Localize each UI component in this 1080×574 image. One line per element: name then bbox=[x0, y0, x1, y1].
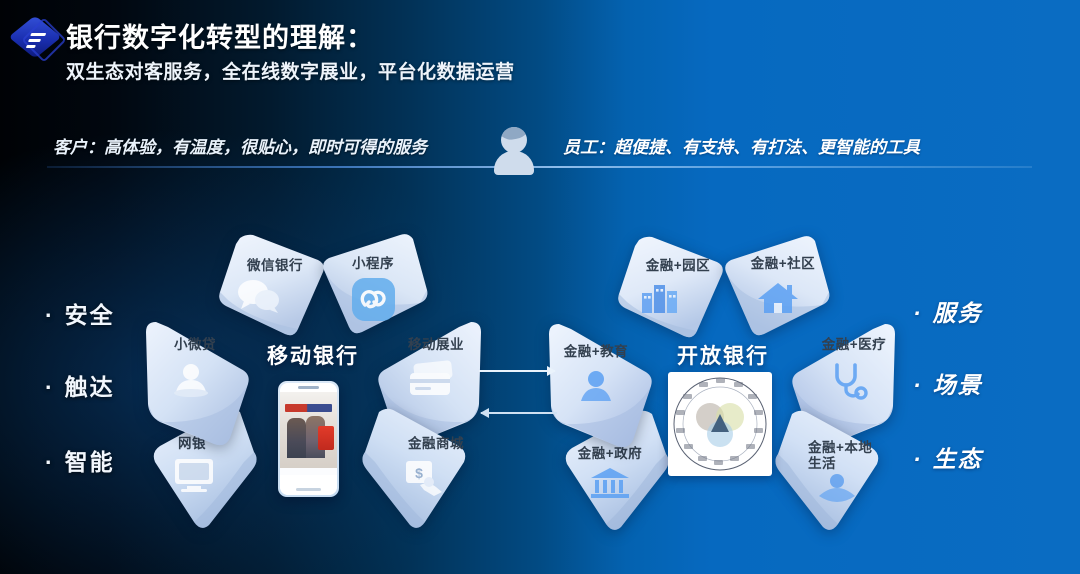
left-cluster-title: 移动银行 bbox=[267, 340, 359, 370]
desktop-monitor-icon bbox=[172, 457, 216, 500]
left-bullet-label-1: 触达 bbox=[65, 374, 115, 400]
user-avatar-icon bbox=[492, 127, 536, 173]
svg-text:$: $ bbox=[415, 465, 423, 481]
bullet-dot: · bbox=[45, 374, 55, 401]
arrow-left-to-right bbox=[479, 370, 555, 372]
petal-label-finance-education: 金融+教育 bbox=[548, 344, 644, 360]
left-bullet-0: ·安全 bbox=[45, 296, 115, 330]
left-bullet-2: ·智能 bbox=[45, 443, 115, 477]
page-subtitle: 双生态对客服务，全在线数字展业，平台化数据运营 bbox=[66, 57, 515, 84]
band-divider bbox=[47, 166, 1032, 168]
petal-label-finance-medical: 金融+医疗 bbox=[806, 337, 902, 353]
right-bullet-1: ·场景 bbox=[913, 366, 983, 400]
right-bullet-0: ·服务 bbox=[913, 294, 983, 328]
left-bullet-label-0: 安全 bbox=[65, 302, 115, 328]
shopping-money-icon: $ bbox=[404, 458, 448, 503]
brand-diamond-logo bbox=[12, 16, 60, 64]
petal-label-wechat-bank: 微信银行 bbox=[230, 258, 320, 274]
petal-label-finance-community: 金融+社区 bbox=[733, 256, 833, 272]
arrow-right-to-left bbox=[481, 412, 557, 414]
right-bullet-label-1: 场景 bbox=[933, 372, 983, 398]
bullet-dot: · bbox=[45, 449, 55, 476]
right-bullet-2: ·生态 bbox=[913, 440, 983, 474]
bullet-dot: · bbox=[913, 300, 923, 327]
right-bullet-label-0: 服务 bbox=[933, 300, 983, 326]
petal-label-micro-loan: 小微贷 bbox=[155, 337, 235, 353]
petal-label-finance-mall: 金融商城 bbox=[392, 436, 480, 452]
left-bullet-label-2: 智能 bbox=[65, 449, 115, 475]
slide-canvas: 银行数字化转型的理解： 双生态对客服务，全在线数字展业，平台化数据运营 客户：高… bbox=[0, 0, 1080, 574]
education-person-icon bbox=[574, 368, 618, 411]
right-bullet-label-2: 生态 bbox=[933, 446, 983, 472]
bullet-dot: · bbox=[913, 446, 923, 473]
petal-label-finance-park: 金融+园区 bbox=[628, 258, 728, 274]
employee-statement: 员工：超便捷、有支持、有打法、更智能的工具 bbox=[563, 133, 920, 158]
page-title: 银行数字化转型的理解： bbox=[66, 16, 374, 55]
petal-label-finance-local-life: 金融+本地 生活 bbox=[808, 440, 892, 471]
local-life-hands-icon bbox=[814, 470, 860, 509]
customer-statement: 客户：高体验，有温度，很贴心，即时可得的服务 bbox=[53, 133, 427, 158]
bullet-dot: · bbox=[45, 302, 55, 329]
petal-label-mobile-business: 移动展业 bbox=[392, 337, 480, 353]
government-bank-icon bbox=[588, 466, 632, 505]
right-cluster-title: 开放银行 bbox=[677, 340, 769, 370]
bullet-dot: · bbox=[913, 372, 923, 399]
petal-label-miniprogram: 小程序 bbox=[328, 256, 418, 272]
left-bullet-1: ·触达 bbox=[45, 368, 115, 402]
mobile-banking-phone-mockup bbox=[278, 381, 339, 497]
person-loan-icon bbox=[168, 360, 214, 403]
bank-cards-icon bbox=[406, 360, 456, 403]
stethoscope-icon bbox=[828, 362, 870, 407]
open-banking-ecosystem-circle-diagram bbox=[668, 372, 772, 476]
